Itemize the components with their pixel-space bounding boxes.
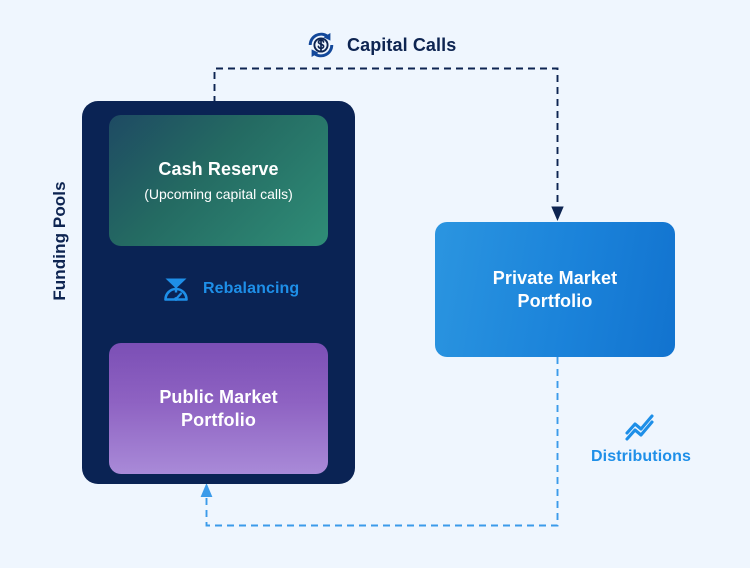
cash-reserve-card[interactable]: Cash Reserve (Upcoming capital calls): [109, 115, 328, 246]
rebalancing-label: Rebalancing: [203, 280, 299, 298]
private-market-title-line2: Portfolio: [493, 290, 617, 313]
diagram-canvas: Funding Pools Cash Reserve (Upcoming cap…: [0, 0, 750, 568]
distributions-label-group: Distributions: [580, 412, 702, 466]
refresh-dollar-icon: [305, 29, 337, 61]
public-market-title-line1: Public Market: [159, 386, 277, 409]
balance-scale-icon: [160, 273, 192, 305]
capital-calls-label: Capital Calls: [347, 35, 456, 56]
private-market-portfolio-card[interactable]: Private Market Portfolio: [435, 222, 675, 357]
distributions-label: Distributions: [591, 448, 691, 466]
public-market-portfolio-card[interactable]: Public Market Portfolio: [109, 343, 328, 474]
cash-reserve-subtitle: (Upcoming capital calls): [144, 185, 293, 203]
capital-calls-label-group: Capital Calls: [305, 29, 456, 61]
funding-pools-axis-label: Funding Pools: [47, 181, 73, 301]
cash-reserve-title: Cash Reserve: [158, 158, 278, 181]
public-market-title-line2: Portfolio: [181, 409, 256, 432]
trending-up-icon: [624, 412, 658, 442]
private-market-title-line1: Private Market: [493, 267, 617, 290]
rebalancing-label-group: Rebalancing: [160, 273, 299, 305]
